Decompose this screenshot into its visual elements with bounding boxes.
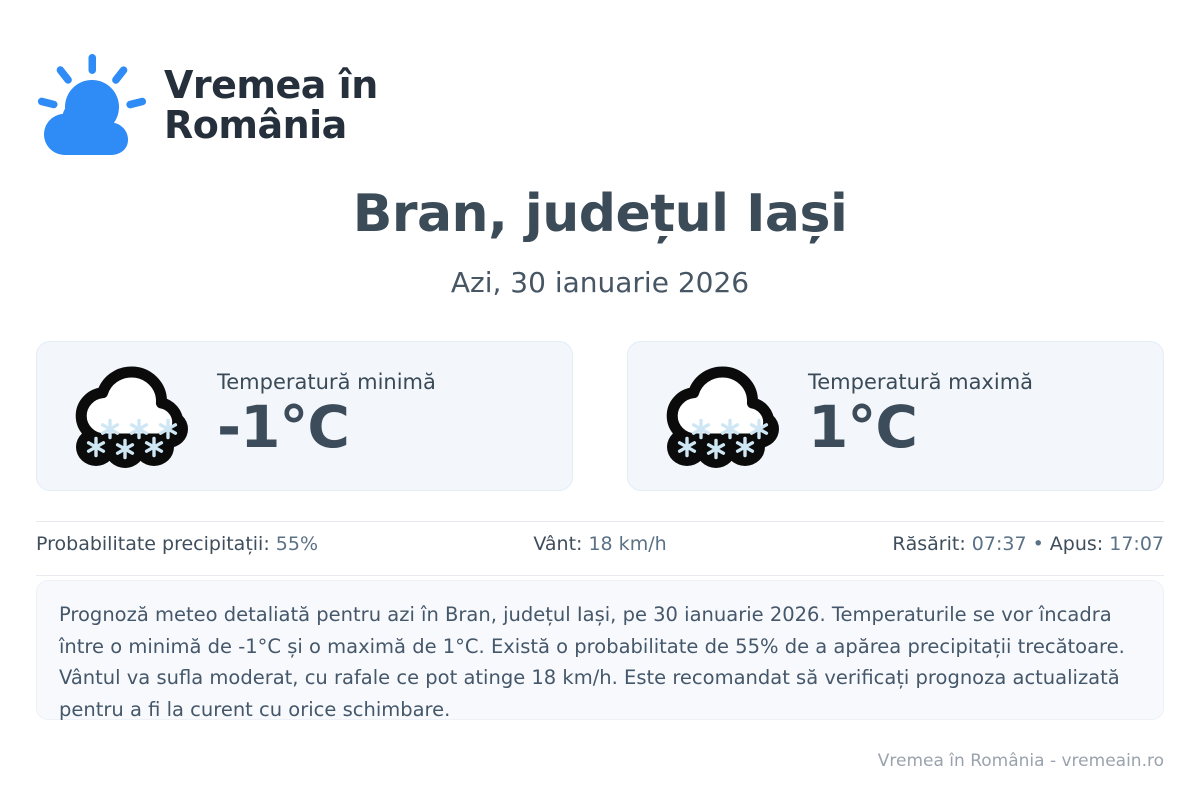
sun-separator: • xyxy=(1027,533,1050,555)
card-max-label: Temperatură maximă xyxy=(808,370,1033,395)
precipitation-label: Probabilitate precipitații: xyxy=(36,533,276,555)
divider-top xyxy=(36,521,1164,522)
card-min-body: Temperatură minimă -1°C xyxy=(217,370,436,458)
forecast-description: Prognoză meteo detaliată pentru azi în B… xyxy=(36,580,1164,720)
wind-value: 18 km/h xyxy=(588,533,666,555)
stat-wind: Vânt: 18 km/h xyxy=(412,533,788,555)
sunrise-value: 07:37 xyxy=(972,533,1027,555)
temperature-cards: Temperatură minimă -1°C xyxy=(36,341,1164,491)
page-title: Bran, județul Iași xyxy=(0,184,1200,244)
snow-cloud-icon xyxy=(662,361,786,471)
weather-page: Vremea în România Bran, județul Iași Azi… xyxy=(0,0,1200,800)
stats-row: Probabilitate precipitații: 55% Vânt: 18… xyxy=(36,533,1164,555)
stat-sun-times: Răsărit: 07:37•Apus: 17:07 xyxy=(788,533,1164,555)
card-min-temperature: Temperatură minimă -1°C xyxy=(36,341,573,491)
card-min-label: Temperatură minimă xyxy=(217,370,436,395)
card-max-body: Temperatură maximă 1°C xyxy=(808,370,1033,458)
brand-name: Vremea în România xyxy=(164,65,378,146)
snow-cloud-icon xyxy=(71,361,195,471)
sunset-value: 17:07 xyxy=(1109,533,1164,555)
card-max-value: 1°C xyxy=(808,397,1033,458)
card-max-temperature: Temperatură maximă 1°C xyxy=(627,341,1164,491)
precipitation-value: 55% xyxy=(276,533,318,555)
footer-credit: Vremea în România - vremeain.ro xyxy=(878,751,1164,771)
divider-bottom xyxy=(36,575,1164,576)
wind-label: Vânt: xyxy=(533,533,588,555)
sunrise-label: Răsărit: xyxy=(892,533,971,555)
card-min-value: -1°C xyxy=(217,397,436,458)
stat-precipitation: Probabilitate precipitații: 55% xyxy=(36,533,412,555)
page-subtitle: Azi, 30 ianuarie 2026 xyxy=(0,266,1200,299)
sun-cloud-icon xyxy=(36,52,148,158)
sunset-label: Apus: xyxy=(1050,533,1109,555)
brand-logo[interactable]: Vremea în România xyxy=(36,52,378,158)
